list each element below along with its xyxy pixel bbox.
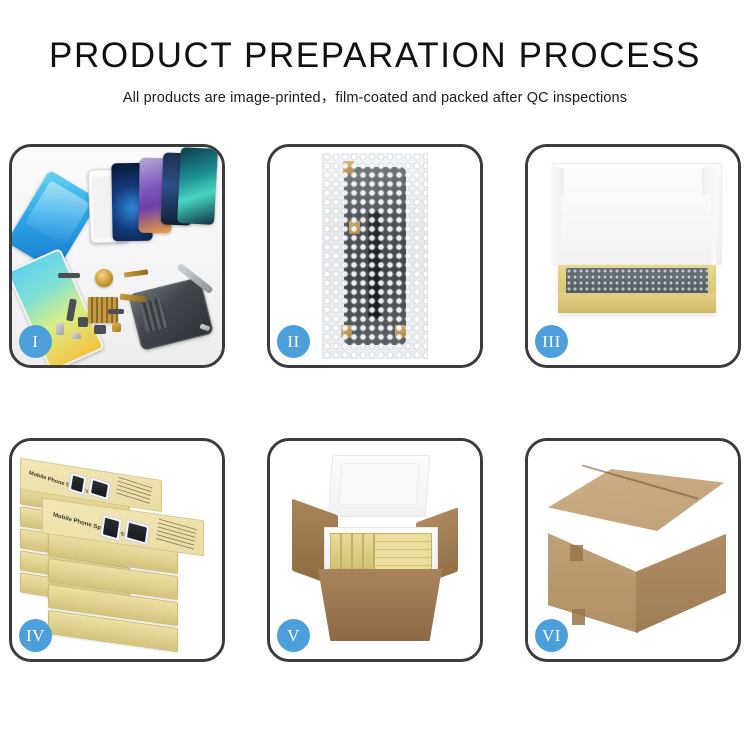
process-step-panel-5[interactable]: V	[267, 438, 483, 662]
packed-box-4	[363, 533, 374, 573]
box-specs-text-front	[156, 518, 197, 551]
speaker-coil-part	[95, 269, 113, 287]
page-header: PRODUCT PREPARATION PROCESS All products…	[0, 0, 750, 107]
carton-tape-upper	[570, 545, 583, 561]
process-step-panel-4[interactable]: Mobile Phone Spare Parts Mobile Phone Sp…	[9, 438, 225, 662]
packed-box-2	[341, 533, 352, 573]
kraft-box-front-face	[558, 293, 716, 313]
step-badge-1: I	[19, 325, 52, 358]
packed-box-row	[374, 533, 432, 573]
part-strip-1	[58, 273, 80, 278]
step-badge-5: V	[277, 619, 310, 652]
part-chip-gold	[112, 323, 121, 332]
part-bracket-2	[72, 333, 81, 339]
process-step-panel-2[interactable]: II	[267, 144, 483, 368]
foam-box-lid	[328, 455, 430, 517]
process-step-panel-1[interactable]: I	[9, 144, 225, 368]
box-window-back-1	[68, 472, 88, 497]
part-bracket-1	[56, 323, 64, 335]
packed-box-1	[330, 533, 341, 573]
box-window-front-1	[99, 514, 122, 542]
step-badge-4: IV	[19, 619, 52, 652]
page-subtitle: All products are image-printed，film-coat…	[0, 86, 750, 107]
bubble-wrap-bag	[322, 153, 428, 359]
packed-box-3	[352, 533, 363, 573]
carton-left-face	[548, 517, 638, 633]
phone-screen-teal	[177, 147, 218, 225]
bubble-wrap-fill	[566, 268, 708, 294]
part-chip-1	[78, 317, 88, 327]
page-title: PRODUCT PREPARATION PROCESS	[0, 38, 750, 75]
process-step-panel-3[interactable]: III	[525, 144, 741, 368]
box-window-back-2	[88, 476, 112, 501]
step-badge-2: II	[277, 325, 310, 358]
carton-top-face	[548, 469, 724, 531]
step-badge-3: III	[535, 325, 568, 358]
box-specs-text-back	[116, 477, 153, 507]
flex-cable-1	[124, 269, 148, 277]
process-steps-grid: I II III	[9, 144, 741, 662]
part-chip-2	[94, 325, 106, 334]
carton-tape-lower	[572, 609, 585, 625]
step-badge-6: VI	[535, 619, 568, 652]
carton-right-face	[636, 515, 726, 633]
foam-liner	[561, 195, 711, 271]
bubble-texture	[323, 153, 427, 359]
part-strip-3	[108, 309, 124, 314]
box-window-front-2	[124, 519, 151, 546]
carton-body	[318, 569, 442, 641]
process-step-panel-6[interactable]: VI	[525, 438, 741, 662]
